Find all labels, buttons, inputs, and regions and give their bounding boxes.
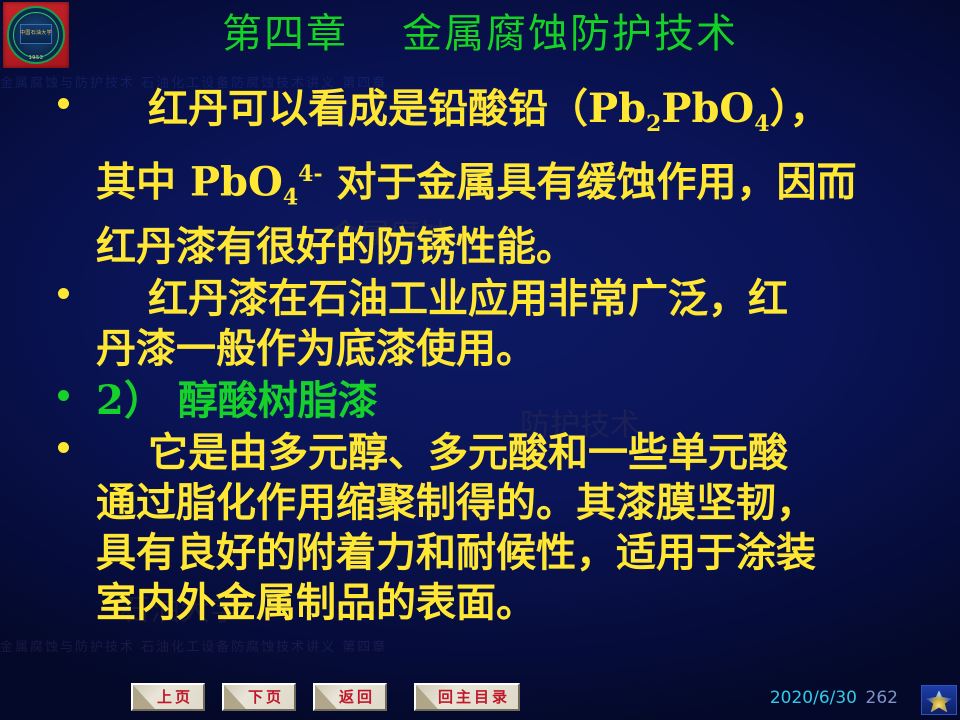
text-run: 通过脂化作用缩聚制得的。其漆膜坚韧， — [96, 479, 816, 526]
text-run: 对于金属具有缓蚀作用，因而 — [323, 158, 857, 205]
bullet-text-lines: 红丹漆在石油工业应用非常广泛，红丹漆一般作为底漆使用。 — [0, 274, 960, 374]
text-line: 红丹漆在石油工业应用非常广泛，红 — [96, 274, 938, 324]
subscript: 2 — [646, 111, 661, 137]
slide-date: 2020/6/30 — [770, 688, 857, 708]
text-line: 通过脂化作用缩聚制得的。其漆膜坚韧， — [96, 478, 938, 528]
text-run: 2） 醇酸树脂漆 — [96, 377, 378, 424]
text-line: 红丹漆有很好的防锈性能。 — [96, 222, 938, 272]
bullet-text-lines: 红丹可以看成是铅酸铅（Pb2PbO4），其中 PbO44- 对于金属具有缓蚀作用… — [0, 84, 960, 272]
title-chapter: 第四章 — [222, 11, 348, 57]
bullet-block: 2） 醇酸树脂漆 — [0, 376, 960, 426]
text-run: 具有良好的附着力和耐候性，适用于涂装 — [96, 529, 816, 576]
text-line: 它是由多元醇、多元酸和一些单元酸 — [96, 428, 938, 478]
presentation-slide: 金属腐蚀与防护技术 石油化工设备防腐蚀技术讲义 第四章 金属腐蚀与防护技术 石油… — [0, 0, 960, 720]
bullet-marker — [58, 98, 69, 109]
text-run: ）， — [770, 85, 830, 132]
bullet-block: 它是由多元醇、多元酸和一些单元酸通过脂化作用缩聚制得的。其漆膜坚韧，具有良好的附… — [0, 428, 960, 628]
text-run: 红丹漆有很好的防锈性能。 — [96, 223, 576, 270]
back-button[interactable]: 返回 — [313, 683, 387, 711]
text-run: 室内外金属制品的表面。 — [96, 579, 536, 626]
title-topic: 金属腐蚀防护技术 — [402, 11, 738, 57]
text-run: 它是由多元醇、多元酸和一些单元酸 — [148, 429, 788, 476]
text-line: 其中 PbO44- 对于金属具有缓蚀作用，因而 — [96, 149, 938, 222]
slide-page-number: 262 — [866, 688, 898, 708]
text-run: 其中 — [96, 158, 190, 205]
next-page-button[interactable]: 下页 — [222, 683, 296, 711]
text-run: 丹漆一般作为底漆使用。 — [96, 325, 536, 372]
text-line: 丹漆一般作为底漆使用。 — [96, 324, 938, 374]
chemical-formula: PbO — [661, 85, 754, 132]
main-menu-button[interactable]: 回主目录 — [414, 683, 520, 711]
chemical-formula: PbO — [190, 158, 283, 205]
bullet-block: 红丹可以看成是铅酸铅（Pb2PbO4），其中 PbO44- 对于金属具有缓蚀作用… — [0, 84, 960, 272]
chemical-formula: Pb — [588, 85, 646, 132]
subscript: 4 — [283, 184, 298, 210]
bullet-block: 红丹漆在石油工业应用非常广泛，红丹漆一般作为底漆使用。 — [0, 274, 960, 374]
text-line: 红丹可以看成是铅酸铅（Pb2PbO4）， — [96, 84, 938, 149]
prev-page-button[interactable]: 上页 — [131, 683, 205, 711]
text-line: 室内外金属制品的表面。 — [96, 578, 938, 628]
subscript: 4 — [754, 111, 769, 137]
text-line: 具有良好的附着力和耐候性，适用于涂装 — [96, 528, 938, 578]
text-run: 红丹可以看成是铅酸铅（ — [148, 85, 588, 132]
slide-body: 红丹可以看成是铅酸铅（Pb2PbO4），其中 PbO44- 对于金属具有缓蚀作用… — [0, 84, 960, 630]
slide-footer: 上页 下页 返回 回主目录 2020/6/30 262 — [0, 668, 960, 720]
page-title: 第四章金属腐蚀防护技术 — [0, 10, 960, 58]
text-line: 2） 醇酸树脂漆 — [96, 376, 938, 426]
watermark-band-bottom: 金属腐蚀与防护技术 石油化工设备防腐蚀技术讲义 第四章 — [0, 636, 960, 656]
text-run: 红丹漆在石油工业应用非常广泛，红 — [148, 275, 788, 322]
bullet-text-lines: 它是由多元醇、多元酸和一些单元酸通过脂化作用缩聚制得的。其漆膜坚韧，具有良好的附… — [0, 428, 960, 628]
superscript: 4- — [298, 161, 322, 187]
bullet-text-lines: 2） 醇酸树脂漆 — [0, 376, 960, 426]
star-burst-icon — [921, 685, 957, 715]
